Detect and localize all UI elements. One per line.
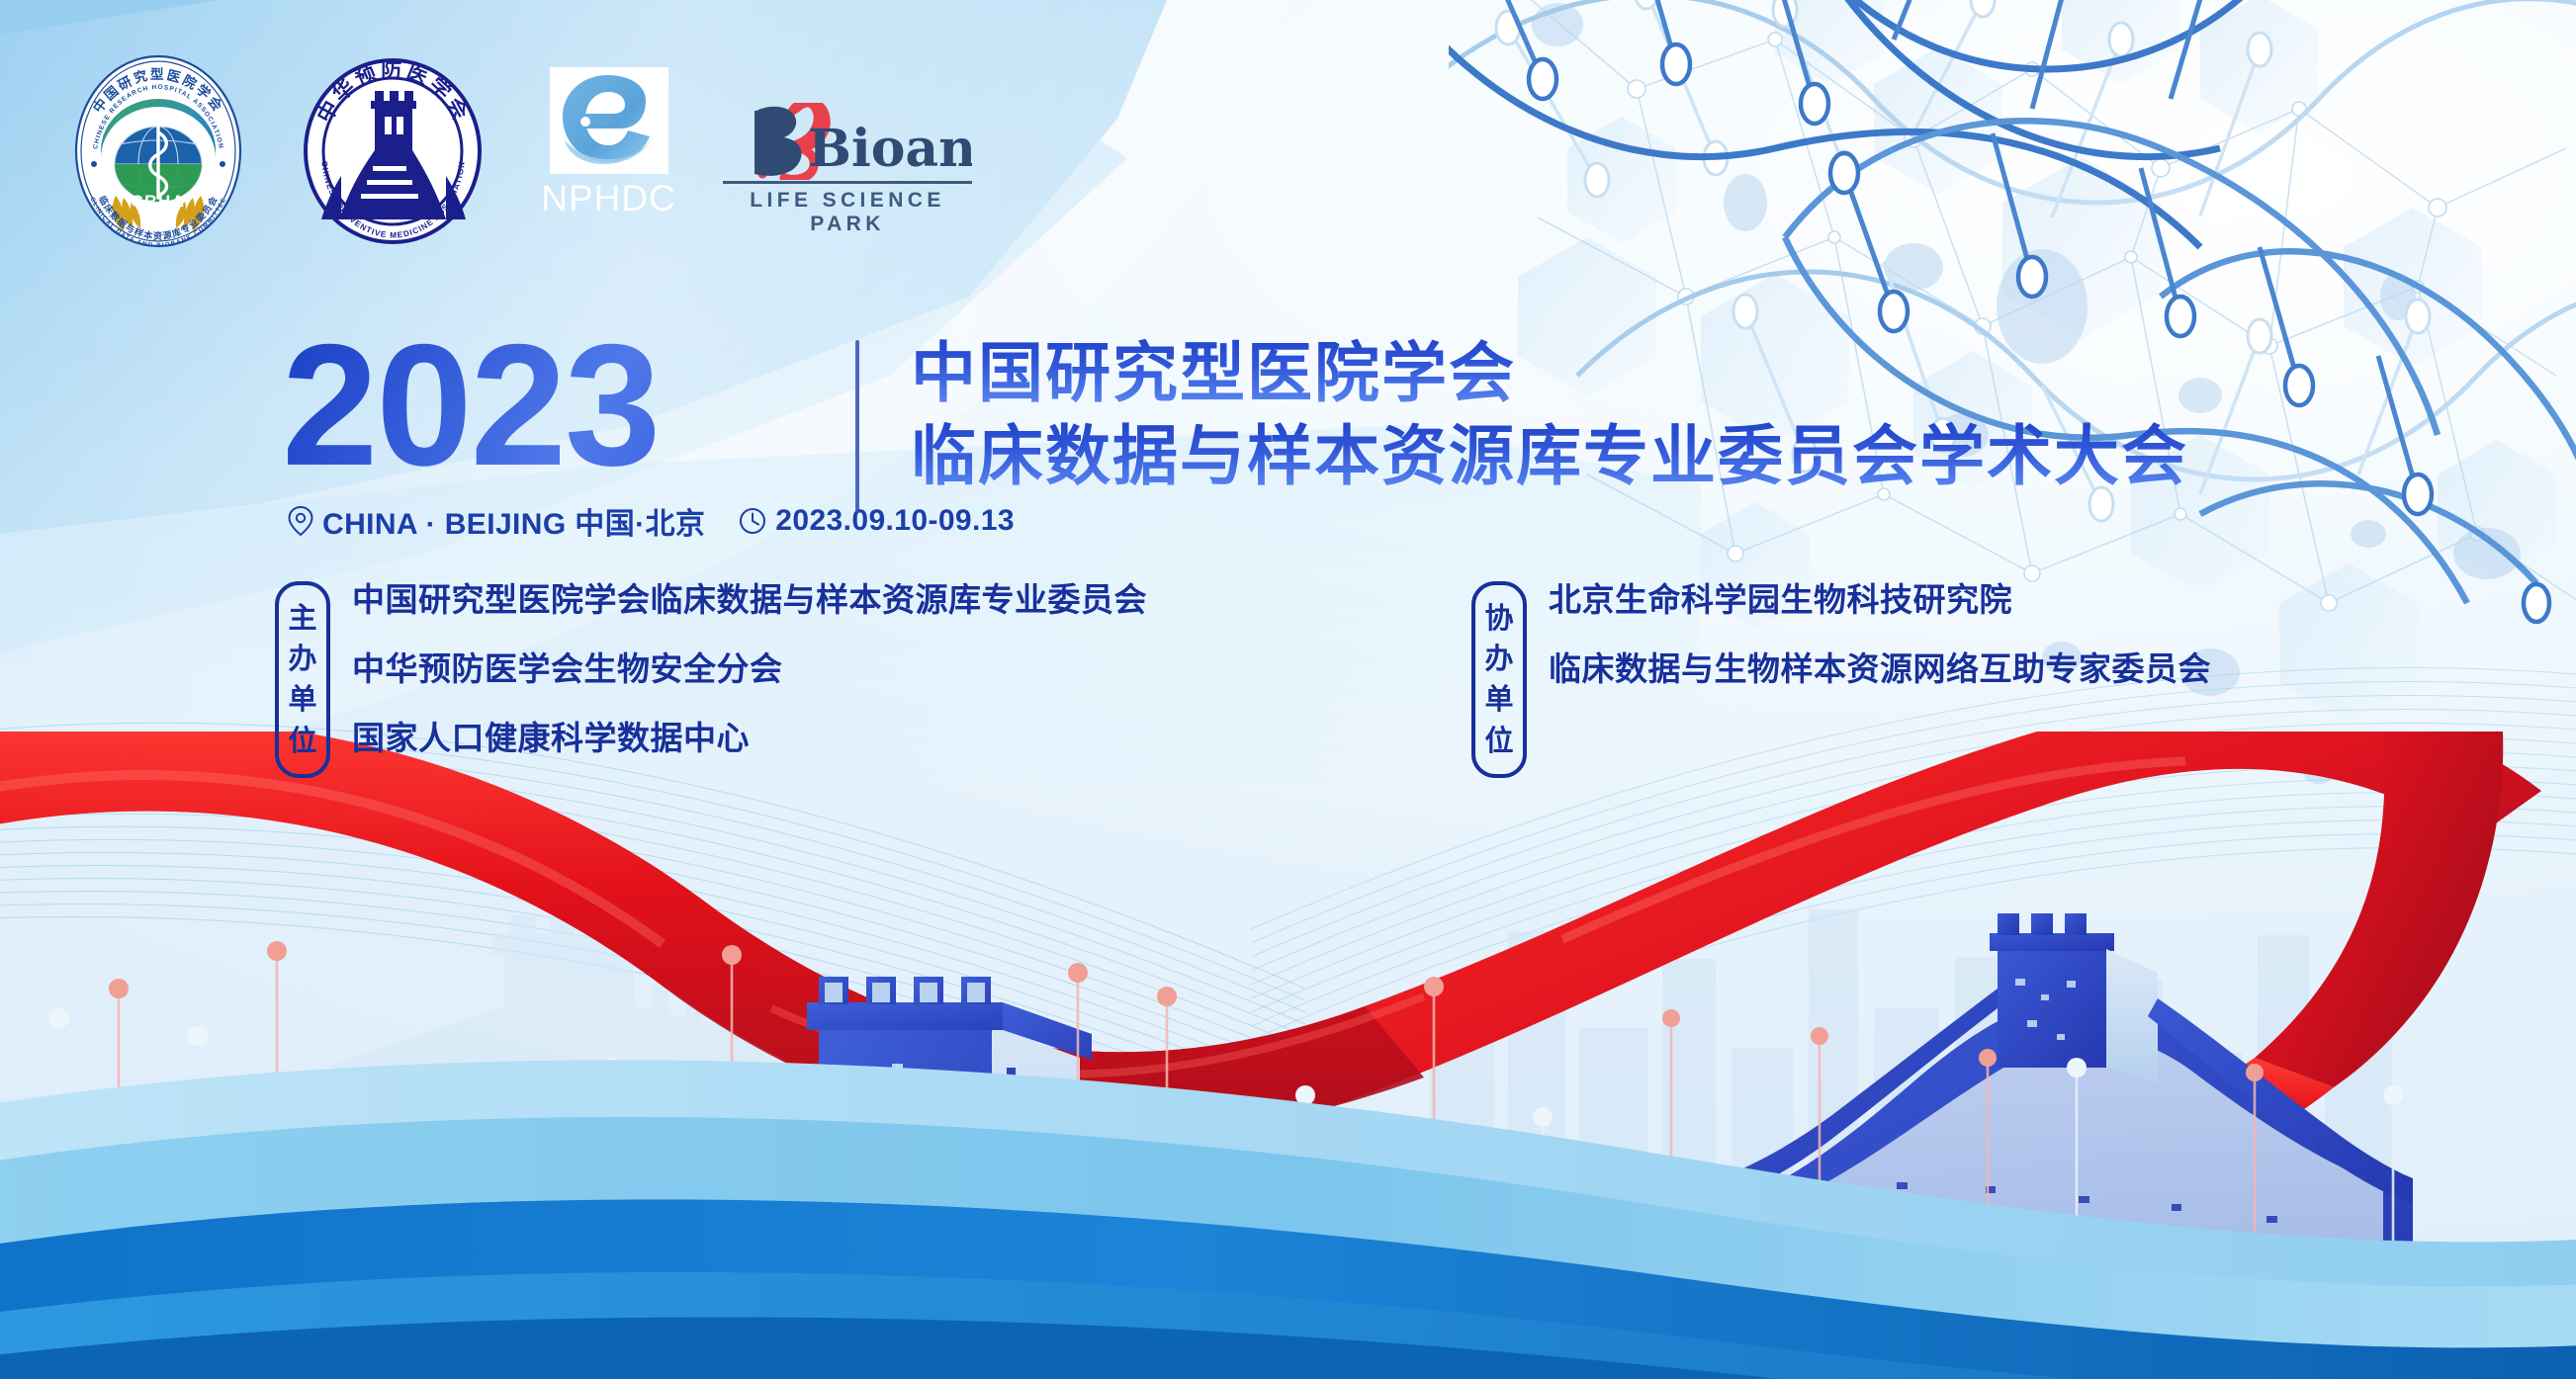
location-text: CHINA · BEIJING 中国·北京 [322, 499, 705, 543]
event-meta: CHINA · BEIJING 中国·北京 2023.09.10-09.13 [288, 499, 845, 543]
cohost-tag-char-3: 位 [1484, 721, 1513, 761]
title-line-1: 中国研究型医院学会 [911, 332, 2188, 415]
host-tag-char-0: 主 [288, 598, 316, 639]
clock-icon [739, 507, 766, 535]
headline-divider [855, 340, 859, 513]
cohost-tag-char-0: 协 [1484, 598, 1513, 639]
host-tag-char-3: 位 [288, 721, 316, 761]
location-pin-icon [288, 506, 313, 536]
nphdc-acronym: NPHDC [522, 178, 695, 219]
year-text: 2023 [282, 326, 845, 485]
nphdc-logo: NPHDC [522, 67, 695, 235]
cohost-item: 北京生命科学园生物科技研究院 [1549, 583, 2211, 616]
host-group: 主 办 单 位 中国研究型医院学会临床数据与样本资源库专业委员会 中华预防医学会… [275, 581, 1147, 778]
headline-block: 2023 CHINA · BEIJING 中国·北京 2023.09.10-09… [282, 326, 2188, 543]
crha-logo: 中国研究型医院学会 CHINESE RESEARCH HOSPITAL ASSO… [54, 47, 262, 255]
biobank-divider [723, 181, 972, 184]
location-meta: CHINA · BEIJING 中国·北京 [288, 499, 705, 543]
cohost-group: 协 办 单 位 北京生命科学园生物科技研究院 临床数据与生物样本资源网络互助专家… [1471, 581, 2211, 778]
host-tag: 主 办 单 位 [275, 581, 330, 778]
year-block: 2023 CHINA · BEIJING 中国·北京 2023.09.10-09… [282, 326, 845, 543]
nphdc-e-mark [550, 67, 668, 174]
biobank-wordmark-text: Bioank [808, 119, 972, 179]
cohost-tag-char-1: 办 [1484, 639, 1513, 679]
biobank-tagline: LIFE SCIENCE PARK [723, 189, 972, 236]
conference-banner: 中国研究型医院学会 CHINESE RESEARCH HOSPITAL ASSO… [0, 0, 2576, 1379]
title-block: 中国研究型医院学会 临床数据与样本资源库专业委员会学术大会 [911, 326, 2188, 499]
logo-row: 中国研究型医院学会 CHINESE RESEARCH HOSPITAL ASSO… [54, 47, 990, 255]
cohost-list: 北京生命科学园生物科技研究院 临床数据与生物样本资源网络互助专家委员会 [1549, 581, 2211, 685]
cohost-tag-char-2: 单 [1484, 679, 1513, 720]
host-list: 中国研究型医院学会临床数据与样本资源库专业委员会 中华预防医学会生物安全分会 国… [352, 581, 1147, 754]
date-text: 2023.09.10-09.13 [775, 504, 1015, 538]
organizers-section: 主 办 单 位 中国研究型医院学会临床数据与样本资源库专业委员会 中华预防医学会… [275, 581, 2211, 778]
host-tag-char-2: 单 [288, 679, 316, 720]
host-item: 国家人口健康科学数据中心 [352, 722, 1147, 754]
cohost-item: 临床数据与生物样本资源网络互助专家委员会 [1549, 652, 2211, 685]
title-line-2: 临床数据与样本资源库专业委员会学术大会 [911, 415, 2188, 498]
host-item: 中华预防医学会生物安全分会 [352, 652, 1147, 685]
crha-acronym: CRHA [131, 192, 186, 211]
biobank-logo: Bioank LIFE SCIENCE PARK [723, 103, 990, 221]
date-meta: 2023.09.10-09.13 [739, 504, 1015, 538]
biobank-wordmark: Bioank [723, 103, 990, 180]
cohost-tag: 协 办 单 位 [1471, 581, 1527, 778]
cpma-logo: 中华预防医学会 CHINESE PREVENTIVE MEDICINE ASSO… [302, 55, 485, 248]
host-tag-char-1: 办 [288, 639, 316, 679]
host-item: 中国研究型医院学会临床数据与样本资源库专业委员会 [352, 583, 1147, 616]
